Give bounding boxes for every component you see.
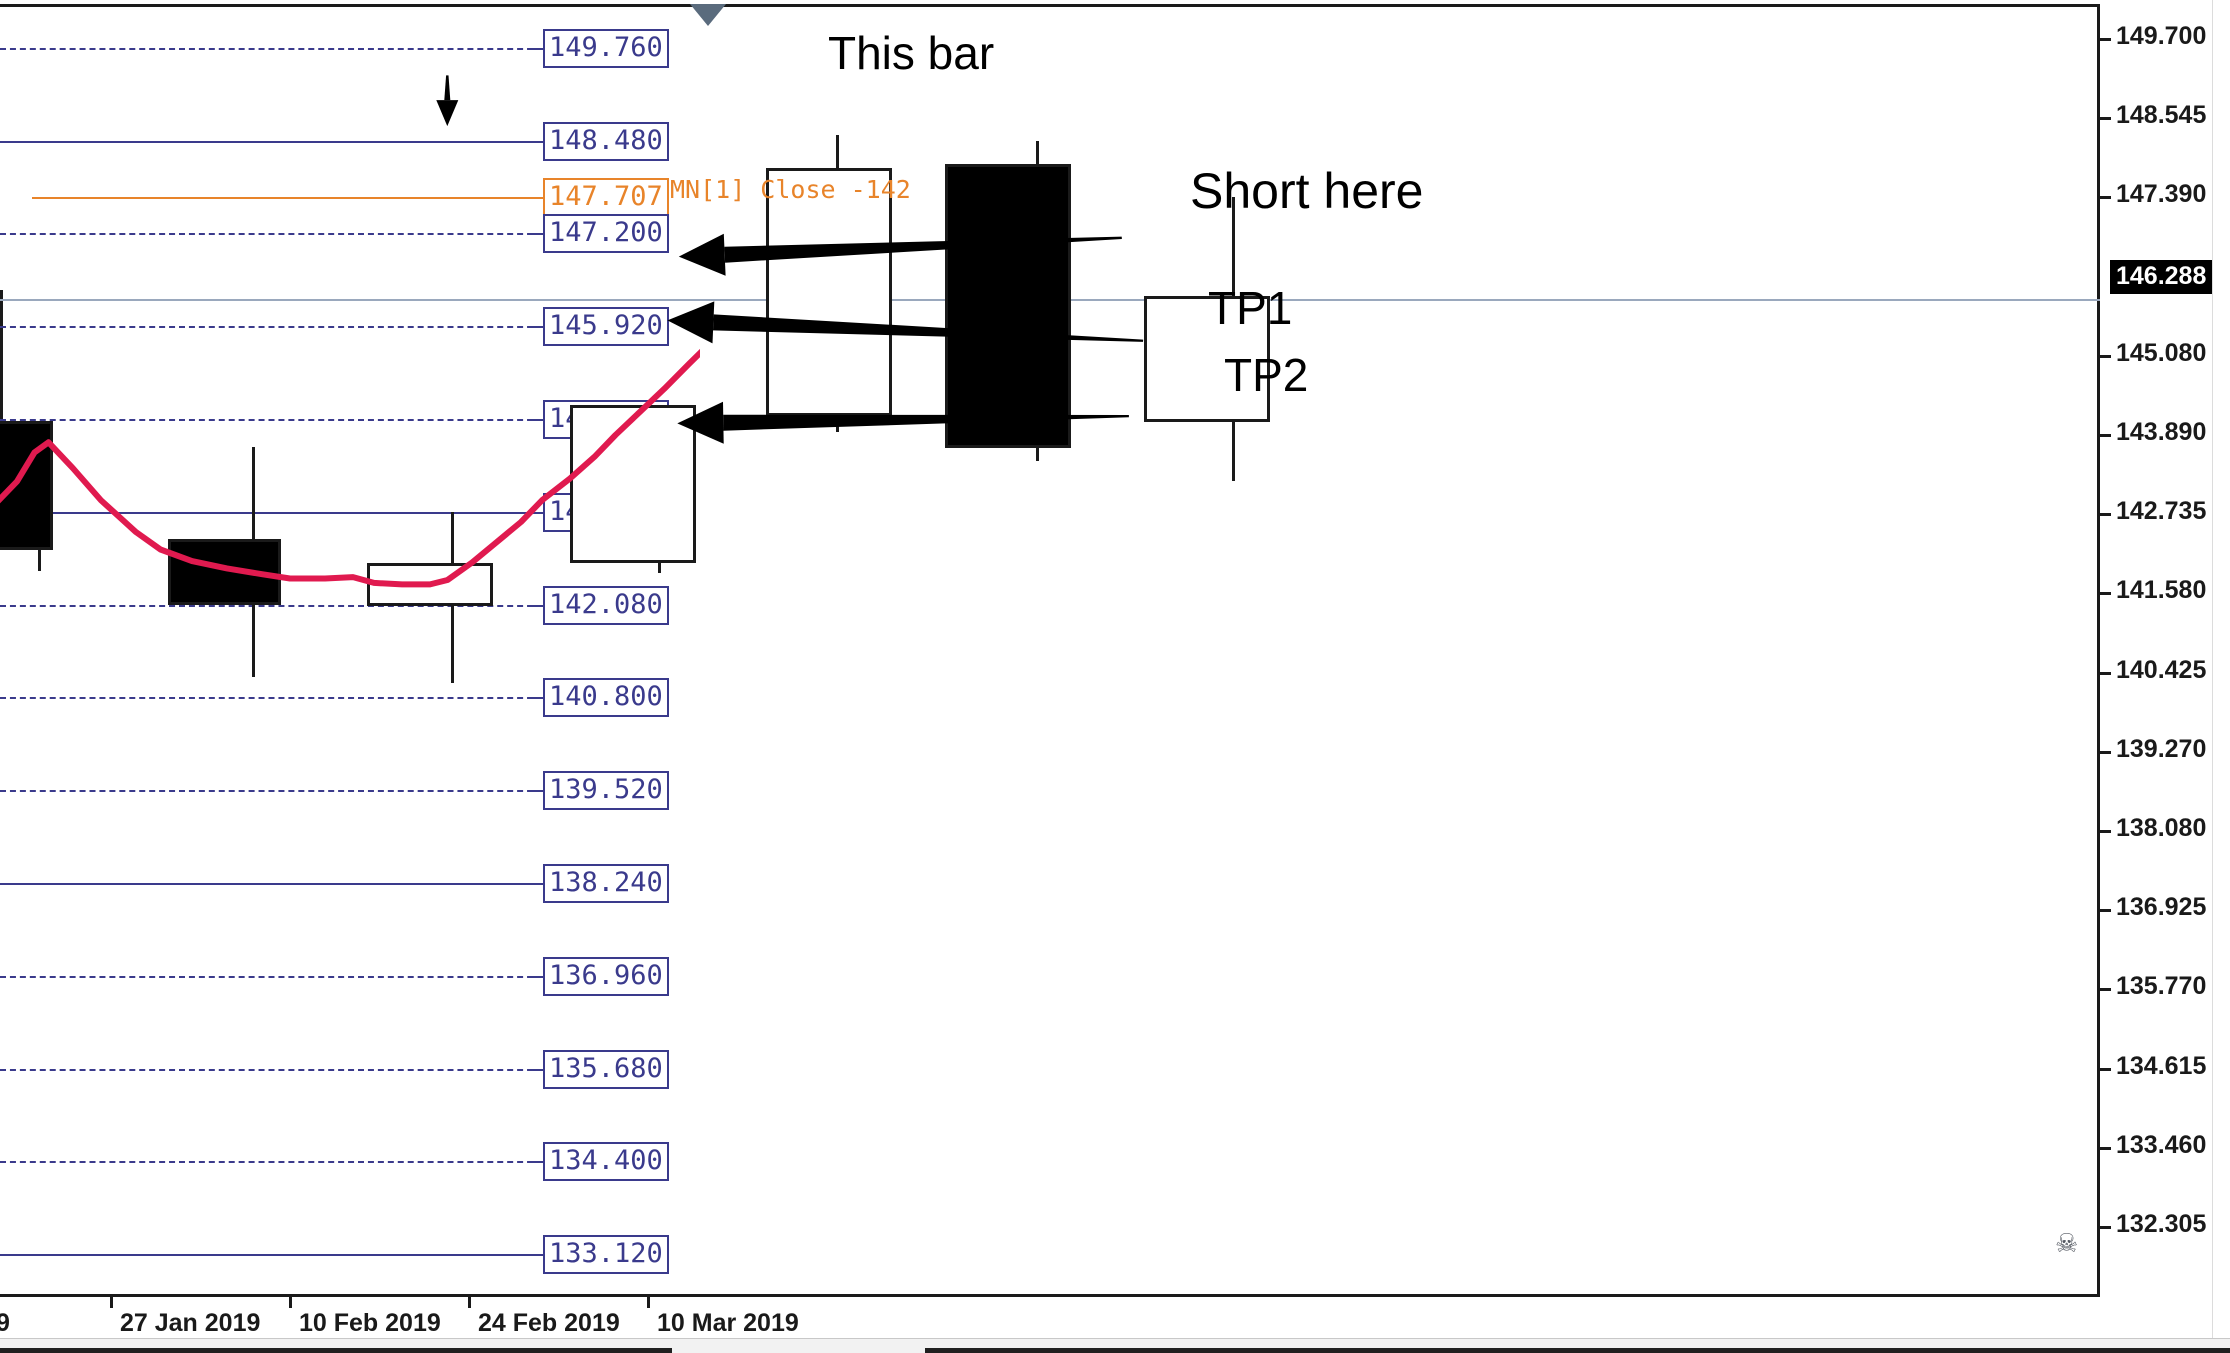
date-axis-tick (647, 1297, 650, 1308)
price-level-tag[interactable]: 139.520 (543, 771, 669, 810)
price-axis-label: 133.460 (2116, 1131, 2206, 1160)
price-level-line[interactable] (0, 512, 543, 514)
price-axis-label: 143.890 (2116, 418, 2206, 447)
price-level-line[interactable] (0, 790, 543, 792)
date-axis-label-clipped: 9 (0, 1309, 10, 1338)
price-level-tag[interactable]: 140.800 (543, 678, 669, 717)
date-axis-label: 27 Jan 2019 (120, 1309, 260, 1338)
price-axis-label: 141.580 (2116, 576, 2206, 605)
candle-body[interactable] (945, 164, 1071, 448)
price-axis-tick (2100, 117, 2111, 120)
price-level-tag[interactable]: 135.680 (543, 1050, 669, 1089)
date-axis-label: 10 Feb 2019 (299, 1309, 441, 1338)
price-axis-label: 145.080 (2116, 339, 2206, 368)
price-axis-label: 147.390 (2116, 180, 2206, 209)
price-axis-tick (2100, 434, 2111, 437)
price-axis-tick (2100, 1147, 2111, 1150)
annotation-tp2: TP2 (1224, 348, 1308, 402)
price-level-line[interactable] (0, 976, 543, 978)
price-axis-current-label: 146.288 (2110, 260, 2212, 294)
price-axis-label: 136.925 (2116, 893, 2206, 922)
price-level-line[interactable] (32, 197, 543, 199)
candle-body[interactable] (570, 405, 696, 563)
window-bottom-edge-left (0, 1348, 672, 1353)
date-axis-label: 10 Mar 2019 (657, 1309, 799, 1338)
candle-body[interactable] (168, 539, 281, 605)
price-level-tag[interactable]: 134.400 (543, 1142, 669, 1181)
right-gutter (2212, 0, 2230, 1338)
price-axis-label: 132.305 (2116, 1210, 2206, 1239)
window-bottom-edge-right (925, 1348, 2230, 1353)
price-axis-tick (2100, 751, 2111, 754)
price-level-tag[interactable]: 138.240 (543, 864, 669, 903)
price-level-tag[interactable]: 133.120 (543, 1235, 669, 1274)
price-level-line[interactable] (0, 419, 543, 421)
candle-body[interactable] (0, 421, 53, 550)
price-axis-label: 138.080 (2116, 814, 2206, 843)
price-level-line[interactable] (0, 1069, 543, 1071)
price-level-line[interactable] (0, 233, 543, 235)
date-axis-tick (468, 1297, 471, 1308)
date-axis-label: 24 Feb 2019 (478, 1309, 620, 1338)
price-level-line[interactable] (0, 697, 543, 699)
triangle-down-marker (690, 4, 726, 26)
price-axis-tick (2100, 196, 2111, 199)
annotation-tp1: TP1 (1208, 281, 1292, 335)
price-level-tag[interactable]: 147.200 (543, 214, 669, 253)
price-level-tag[interactable]: 147.707 (543, 178, 669, 217)
price-axis-tick (2100, 1068, 2111, 1071)
price-level-line[interactable] (0, 1254, 543, 1256)
price-level-line[interactable] (0, 48, 543, 50)
date-axis-tick (289, 1297, 292, 1308)
price-axis-tick (2100, 592, 2111, 595)
price-level-tag[interactable]: 148.480 (543, 122, 669, 161)
annotation-short-here: Short here (1190, 162, 1423, 220)
price-axis-tick (2100, 38, 2111, 41)
candle-body[interactable] (766, 168, 892, 416)
price-axis-tick (2100, 988, 2111, 991)
plot-left-border (0, 290, 3, 420)
price-level-line[interactable] (0, 141, 543, 143)
annotation-this-bar: This bar (828, 26, 994, 80)
price-axis-label: 134.615 (2116, 1052, 2206, 1081)
indicator-legend-label: MN[1] Close -142 (670, 175, 911, 204)
price-axis-label: 148.545 (2116, 101, 2206, 130)
price-axis-tick (2100, 513, 2111, 516)
price-axis-label: 135.770 (2116, 972, 2206, 1001)
date-axis-tick (110, 1297, 113, 1308)
chart-screenshot-root: 149.760148.480147.707147.200145.920144.6… (0, 0, 2230, 1353)
price-axis-tick (2100, 830, 2111, 833)
candle-body[interactable] (367, 563, 493, 606)
price-level-line[interactable] (0, 326, 543, 328)
skull-and-crossbones-icon: ☠ (2055, 1230, 2078, 1256)
price-level-line[interactable] (0, 883, 543, 885)
price-axis-tick (2100, 909, 2111, 912)
price-level-tag[interactable]: 149.760 (543, 29, 669, 68)
price-axis-label: 142.735 (2116, 497, 2206, 526)
price-axis-tick (2100, 672, 2111, 675)
price-axis-label: 139.270 (2116, 735, 2206, 764)
price-level-tag[interactable]: 145.920 (543, 307, 669, 346)
price-level-tag[interactable]: 142.080 (543, 586, 669, 625)
date-axis[interactable]: 27 Jan 201910 Feb 201924 Feb 201910 Mar … (0, 1294, 2100, 1338)
price-axis-tick (2100, 1226, 2111, 1229)
price-level-tag[interactable]: 136.960 (543, 957, 669, 996)
price-axis-label: 149.700 (2116, 22, 2206, 51)
price-level-line[interactable] (0, 1161, 543, 1163)
price-axis-tick (2100, 355, 2111, 358)
price-axis-label: 140.425 (2116, 656, 2206, 685)
price-axis[interactable]: 149.700148.545147.390146.288145.080143.8… (2100, 0, 2230, 1320)
